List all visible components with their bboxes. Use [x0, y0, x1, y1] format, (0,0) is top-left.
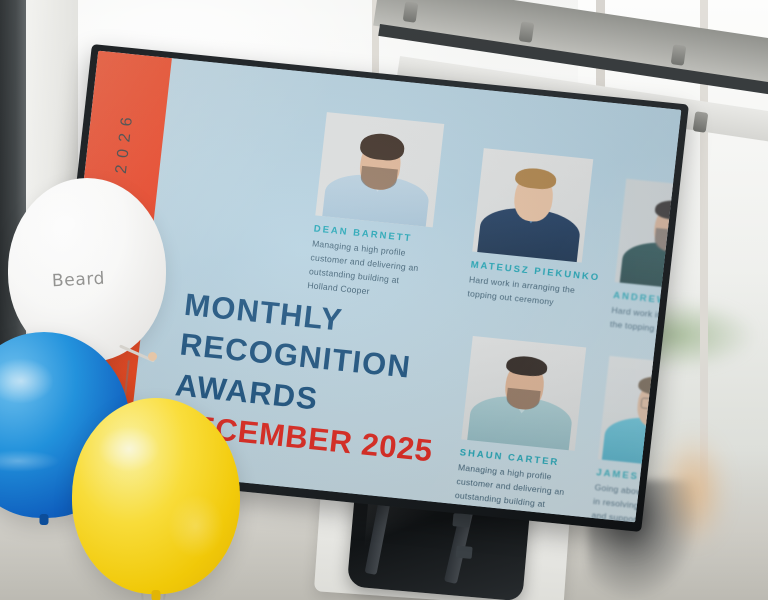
balloon-highlight	[0, 358, 54, 404]
headshot-shaun-carter	[461, 336, 586, 451]
balloon-stick-tip	[148, 352, 157, 361]
recipient-citation: Managing a high profile customer and del…	[307, 237, 431, 304]
window-clip-2	[519, 21, 535, 43]
photo-scene: COMPANY EVENT 2026 MONTHLY RECOGNITION A…	[0, 0, 768, 600]
recipient-card-mateusz-piekunko: MATEUSZ PIEKUNKO Hard work in arranging …	[467, 148, 594, 312]
backpack-buckle-2	[456, 546, 473, 559]
window-clip-3	[671, 44, 687, 66]
window-clip-1	[403, 1, 419, 23]
recipient-citation: Managing a high profile customer and del…	[453, 461, 573, 522]
balloon-highlight	[98, 426, 160, 472]
headshot-dean-barnett	[315, 112, 444, 227]
backpack-buckle-1	[452, 513, 470, 527]
balloon-highlight	[34, 200, 96, 248]
balloon-brand-text: Beard	[52, 269, 106, 292]
balloon-highlight-right	[168, 494, 224, 558]
balloon-yellow	[72, 398, 240, 594]
recipient-card-dean-barnett: DEAN BARNETT Managing a high profile cus…	[307, 112, 445, 304]
recipient-card-shaun-carter: SHAUN CARTER Managing a high profile cus…	[453, 336, 587, 522]
balloon-highlight-lower	[0, 450, 60, 472]
window-clip-4	[693, 111, 709, 133]
headshot-mateusz-piekunko	[472, 148, 593, 262]
